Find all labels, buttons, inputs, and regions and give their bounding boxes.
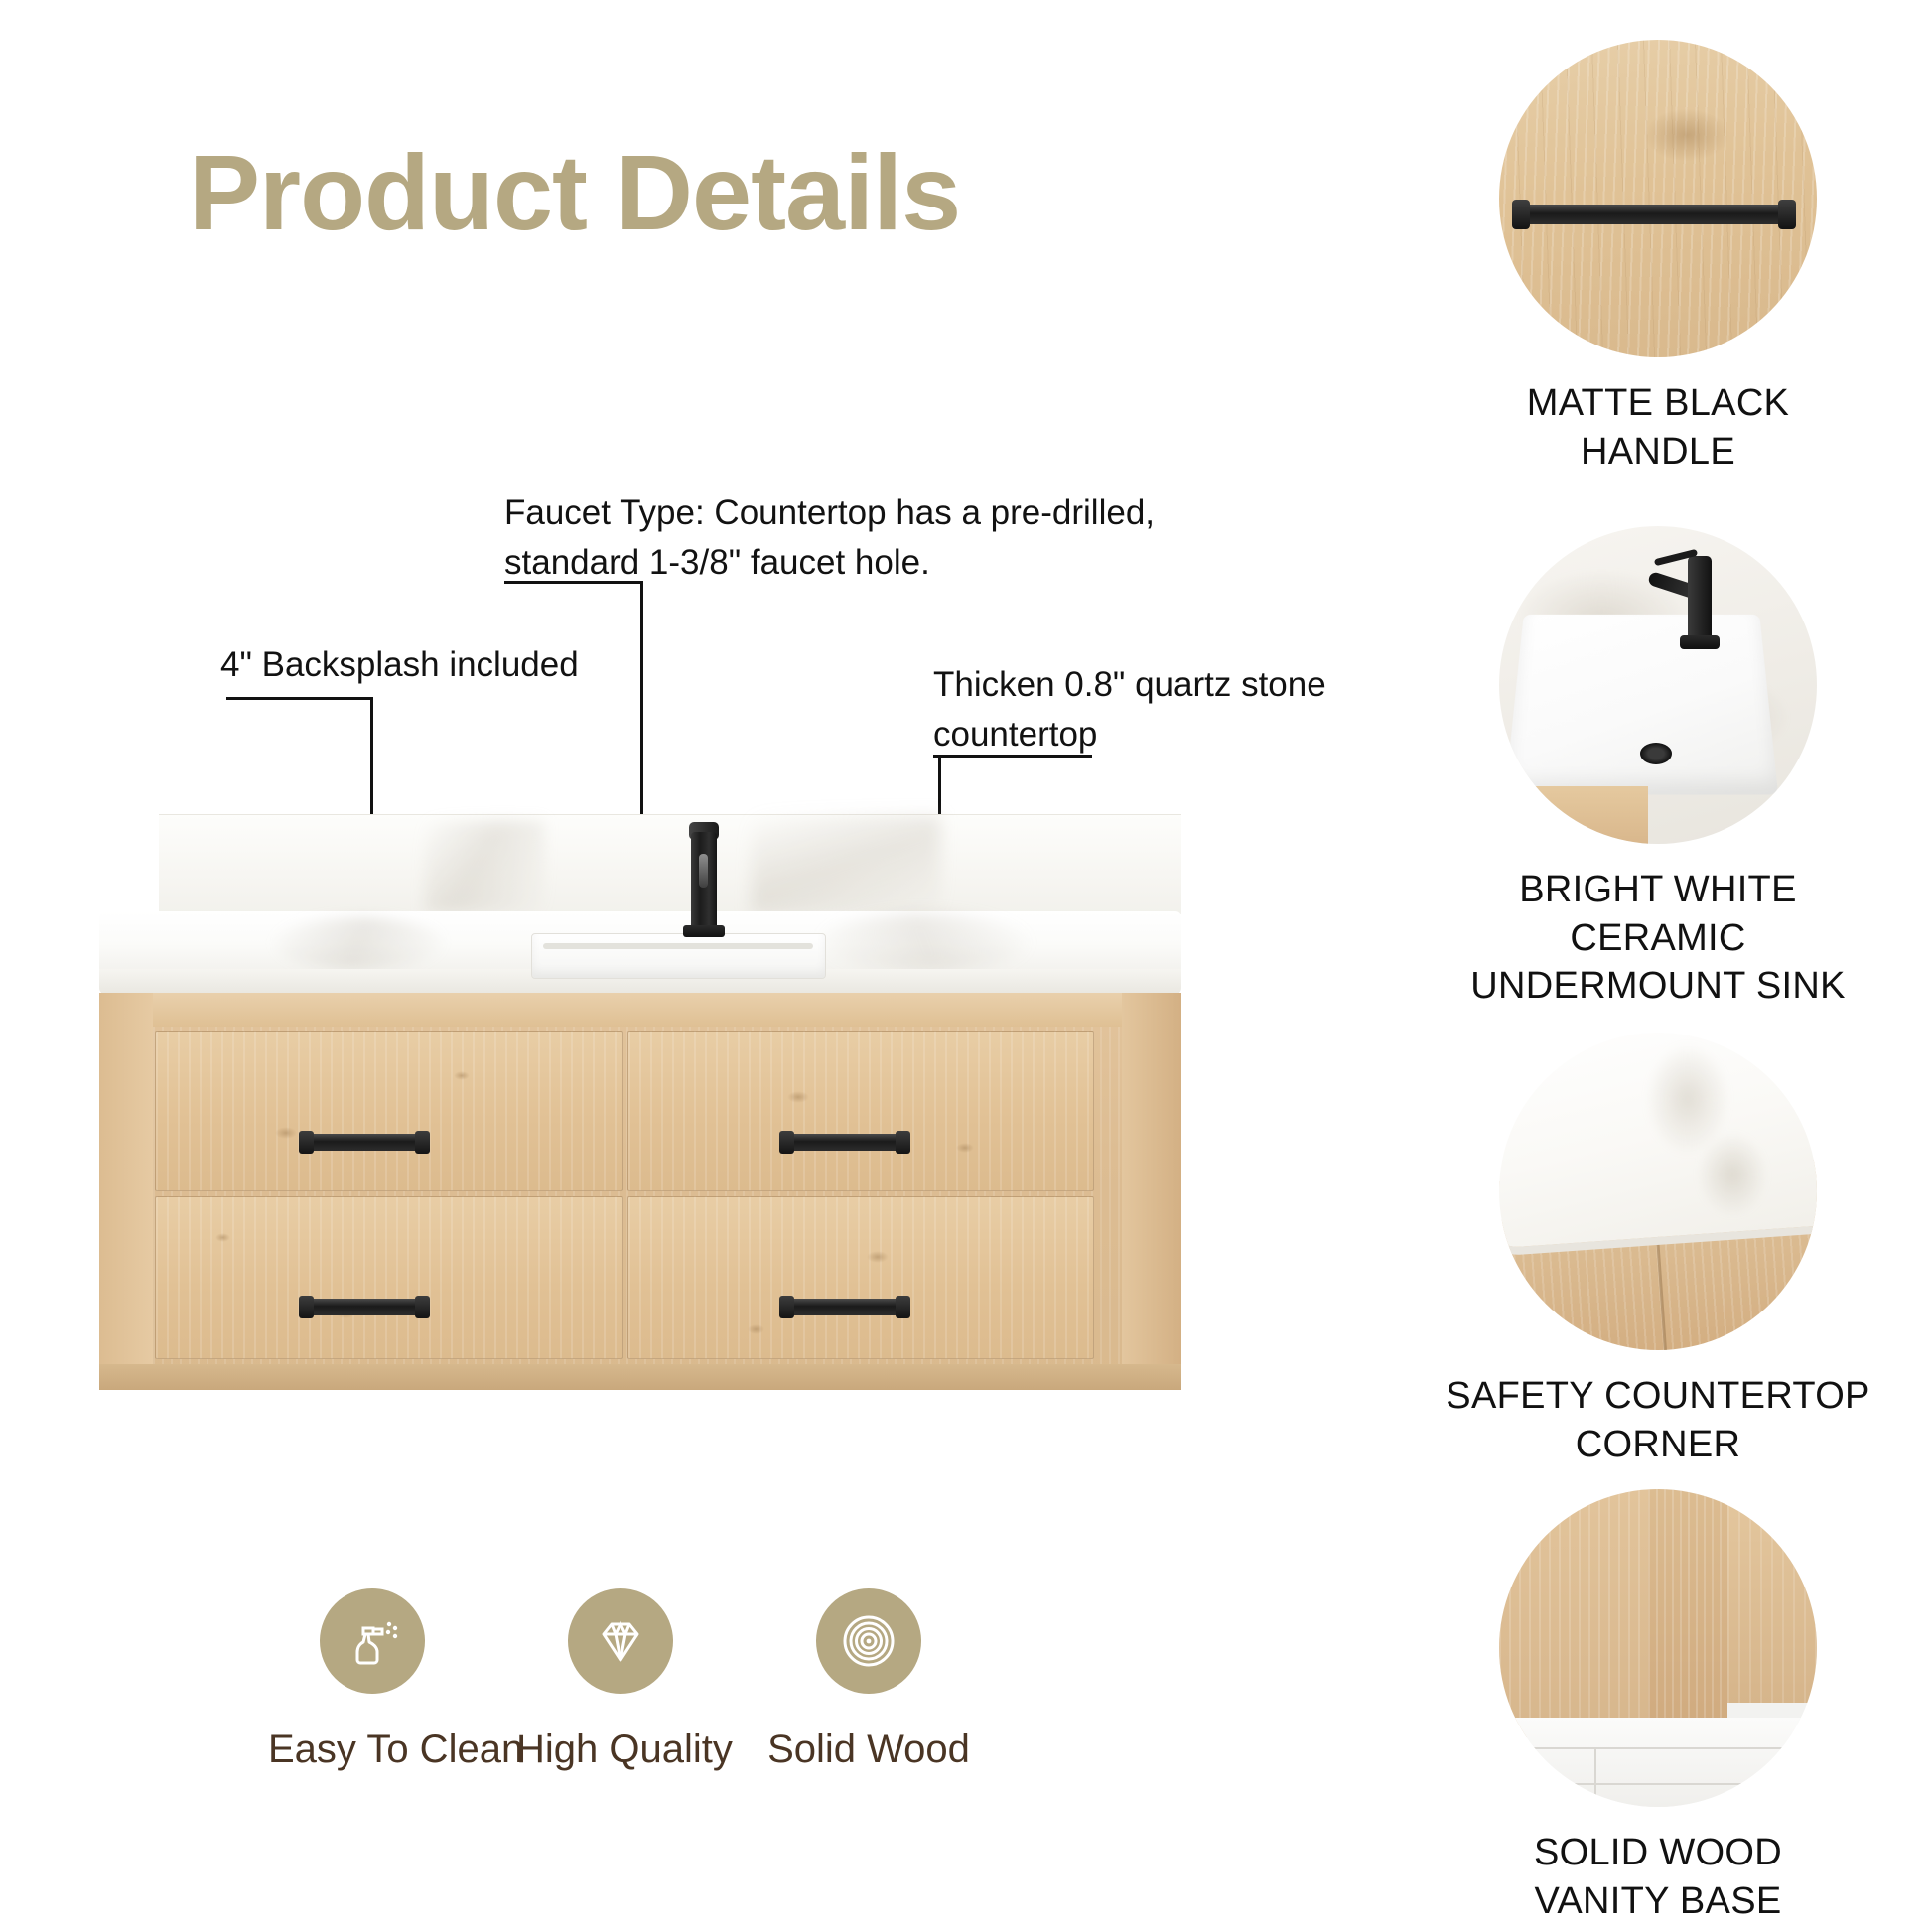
inset-label-line-1: SAFETY COUNTERTOP bbox=[1445, 1372, 1871, 1421]
black-bar-handle bbox=[1521, 205, 1787, 224]
callout-backsplash: 4" Backsplash included bbox=[220, 640, 637, 690]
tile-grout-line-3 bbox=[1594, 1749, 1596, 1807]
inset-label-solid-wood-vanity-base: SOLID WOOD VANITY BASE bbox=[1445, 1829, 1871, 1925]
cabinet-right-side bbox=[1122, 993, 1181, 1390]
inset-solid-wood-vanity-base: SOLID WOOD VANITY BASE bbox=[1445, 1489, 1871, 1925]
tile-grout-line-2 bbox=[1499, 1783, 1817, 1785]
sink-drain bbox=[1640, 743, 1672, 764]
diamond-icon bbox=[592, 1612, 649, 1670]
callout-backsplash-line-1: 4" Backsplash included bbox=[220, 640, 637, 690]
cabinet-top-edge bbox=[99, 993, 1181, 1027]
corner-closeup-scene bbox=[1499, 1033, 1817, 1350]
sink-basin-shape bbox=[1505, 615, 1778, 795]
faucet-mount-base bbox=[1680, 635, 1720, 649]
cabinet-edge-strip bbox=[1499, 786, 1648, 844]
wood-knot bbox=[1645, 109, 1728, 161]
badge-easy-to-clean: Easy To Clean bbox=[268, 1588, 477, 1772]
photo-safety-countertop-corner bbox=[1499, 1033, 1817, 1350]
drawer-handle-top-left[interactable] bbox=[306, 1134, 423, 1151]
inset-label-safety-countertop-corner: SAFETY COUNTERTOP CORNER bbox=[1445, 1372, 1871, 1468]
inset-matte-black-handle: MATTE BLACK HANDLE bbox=[1445, 40, 1871, 476]
callout-countertop-thickness: Thicken 0.8" quartz stone countertop bbox=[933, 660, 1360, 759]
callout-faucet-type-line-1: Faucet Type: Countertop has a pre-drille… bbox=[504, 488, 1239, 538]
photo-matte-black-handle bbox=[1499, 40, 1817, 357]
badge-icon-circle-high-quality bbox=[568, 1588, 673, 1694]
wood-panel-center bbox=[1648, 1489, 1727, 1749]
faucet-base bbox=[683, 925, 725, 937]
badge-label-easy-to-clean: Easy To Clean bbox=[268, 1727, 477, 1772]
page-title: Product Details bbox=[189, 139, 960, 246]
product-details-page: Product Details Faucet Type: Countertop … bbox=[0, 0, 1932, 1932]
drawer-top-right[interactable] bbox=[627, 1031, 1094, 1191]
faucet-column bbox=[1688, 556, 1712, 641]
inset-label-line-1: BRIGHT WHITE bbox=[1445, 866, 1871, 914]
inset-label-line-2: HANDLE bbox=[1445, 428, 1871, 477]
inset-label-matte-black-handle: MATTE BLACK HANDLE bbox=[1445, 379, 1871, 476]
badge-icon-circle-solid-wood bbox=[816, 1588, 921, 1694]
inset-label-ceramic-undermount-sink: BRIGHT WHITE CERAMIC UNDERMOUNT SINK bbox=[1445, 866, 1871, 1011]
wood-panel-right bbox=[1727, 1489, 1817, 1703]
slab-marble-veining bbox=[1628, 1042, 1777, 1231]
inset-safety-countertop-corner: SAFETY COUNTERTOP CORNER bbox=[1445, 1033, 1871, 1468]
faucet-lever bbox=[699, 854, 708, 888]
drawer-bottom-left[interactable] bbox=[155, 1196, 623, 1359]
drawer-handle-bottom-right[interactable] bbox=[786, 1299, 903, 1315]
undermount-sink-basin bbox=[531, 933, 826, 979]
inset-label-line-2: CERAMIC UNDERMOUNT SINK bbox=[1445, 914, 1871, 1011]
inset-ceramic-undermount-sink: BRIGHT WHITE CERAMIC UNDERMOUNT SINK bbox=[1445, 526, 1871, 1011]
badge-high-quality: High Quality bbox=[516, 1588, 725, 1772]
badge-label-solid-wood: Solid Wood bbox=[764, 1727, 973, 1772]
tree-rings-icon bbox=[840, 1612, 897, 1670]
undermount-sink-rim bbox=[543, 943, 813, 949]
drawer-handle-bottom-left[interactable] bbox=[306, 1299, 423, 1315]
inset-label-line-2: VANITY BASE bbox=[1445, 1877, 1871, 1926]
feature-badges: Easy To Clean High Quality bbox=[268, 1588, 963, 1837]
quartz-backsplash bbox=[159, 814, 1181, 914]
callout-countertop-line-1: Thicken 0.8" quartz stone bbox=[933, 660, 1360, 710]
wood-surface-texture bbox=[1499, 40, 1817, 357]
inset-label-line-2: CORNER bbox=[1445, 1421, 1871, 1469]
wood-panel-left bbox=[1499, 1489, 1648, 1737]
countertop-veining-right bbox=[820, 913, 1029, 971]
photo-ceramic-undermount-sink bbox=[1499, 526, 1817, 844]
floor-tile bbox=[1499, 1718, 1817, 1807]
drawer-top-left[interactable] bbox=[155, 1031, 623, 1191]
cabinet-bottom-rail bbox=[99, 1364, 1181, 1390]
tile-grout-line-1 bbox=[1499, 1747, 1817, 1749]
inset-label-line-1: MATTE BLACK bbox=[1445, 379, 1871, 428]
vanity-base-closeup-scene bbox=[1499, 1489, 1817, 1807]
inset-label-line-1: SOLID WOOD bbox=[1445, 1829, 1871, 1877]
sink-closeup-scene bbox=[1499, 526, 1817, 844]
spray-bottle-icon bbox=[344, 1612, 401, 1670]
badge-label-high-quality: High Quality bbox=[516, 1727, 725, 1772]
vanity-cabinet bbox=[99, 993, 1181, 1390]
feature-inset-column: MATTE BLACK HANDLE BRIGHT WHITE bbox=[1445, 40, 1901, 1926]
callout-faucet-type-line-2: standard 1-3/8" faucet hole. bbox=[504, 538, 1239, 588]
vanity-product-image bbox=[99, 814, 1191, 1410]
drawer-bottom-right[interactable] bbox=[627, 1196, 1094, 1359]
callout-faucet-type: Faucet Type: Countertop has a pre-drille… bbox=[504, 488, 1239, 587]
callout-countertop-line-2: countertop bbox=[933, 710, 1360, 759]
badge-icon-circle-easy-to-clean bbox=[320, 1588, 425, 1694]
photo-solid-wood-vanity-base bbox=[1499, 1489, 1817, 1807]
countertop-veining-left bbox=[274, 917, 443, 969]
drawer-handle-top-right[interactable] bbox=[786, 1134, 903, 1151]
cabinet-left-side bbox=[99, 993, 153, 1390]
badge-solid-wood: Solid Wood bbox=[764, 1588, 973, 1772]
